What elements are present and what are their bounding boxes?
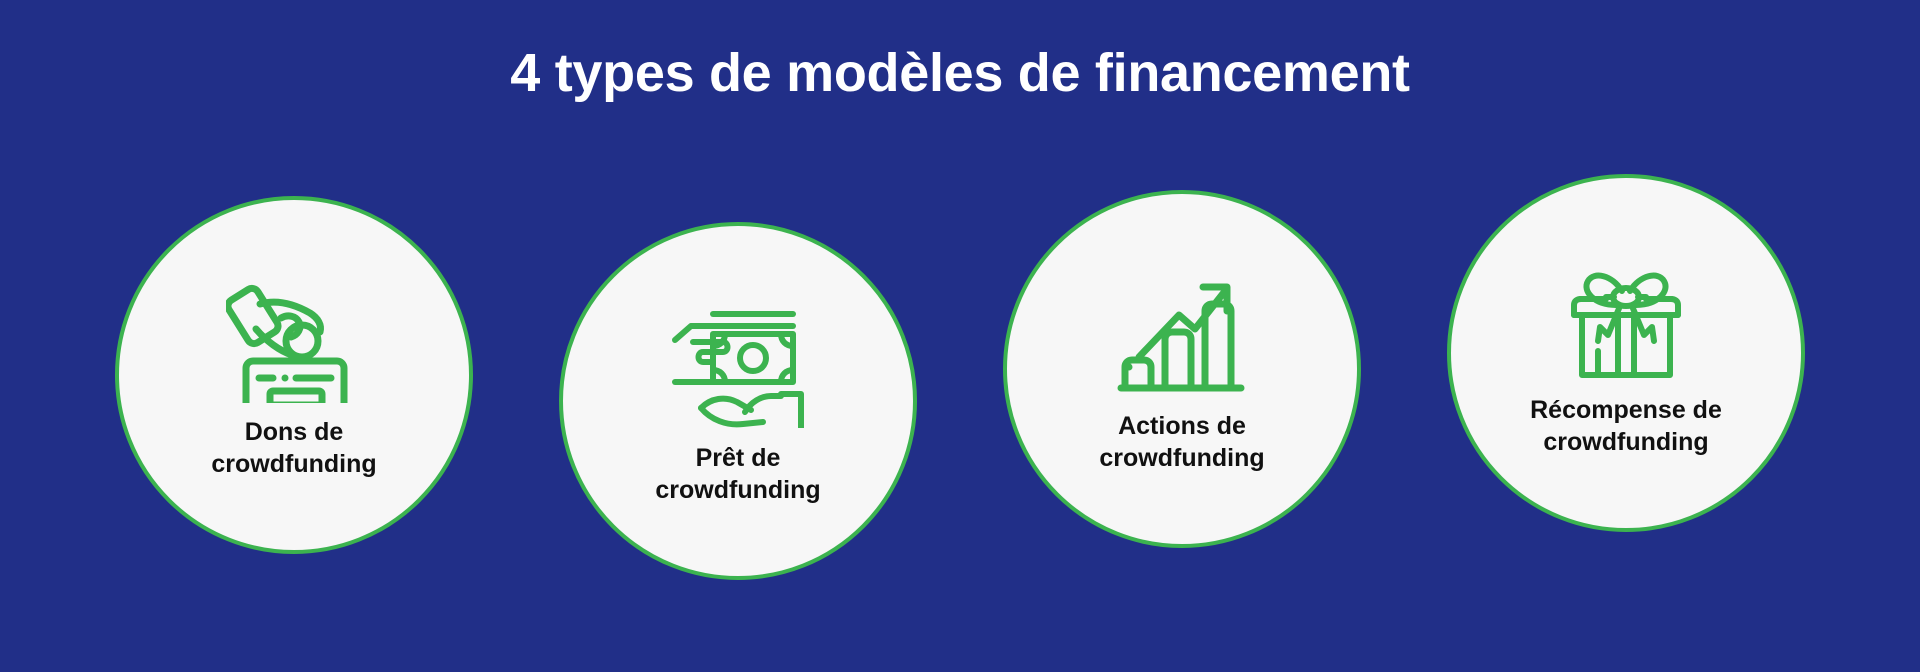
bar-chart-growth-arrow-icon [1107,264,1257,402]
infographic-page: 4 types de modèles de financement [0,0,1920,672]
page-title: 4 types de modèles de financement [0,44,1920,103]
card-pret-de-crowdfunding[interactable]: Prêt de crowdfunding [559,222,917,580]
card-row: Dons de crowdfunding [0,196,1920,556]
banknote-hand-loan-icon [663,296,813,434]
card-label: Récompense de crowdfunding [1530,394,1722,458]
card-label: Actions de crowdfunding [1099,410,1264,474]
gift-box-ribbon-icon [1551,248,1701,386]
card-dons-de-crowdfunding[interactable]: Dons de crowdfunding [115,196,473,554]
hand-donation-box-icon [219,270,369,408]
card-recompense-de-crowdfunding[interactable]: Récompense de crowdfunding [1447,174,1805,532]
card-actions-de-crowdfunding[interactable]: Actions de crowdfunding [1003,190,1361,548]
card-label: Dons de crowdfunding [211,416,376,480]
card-label: Prêt de crowdfunding [655,442,820,506]
